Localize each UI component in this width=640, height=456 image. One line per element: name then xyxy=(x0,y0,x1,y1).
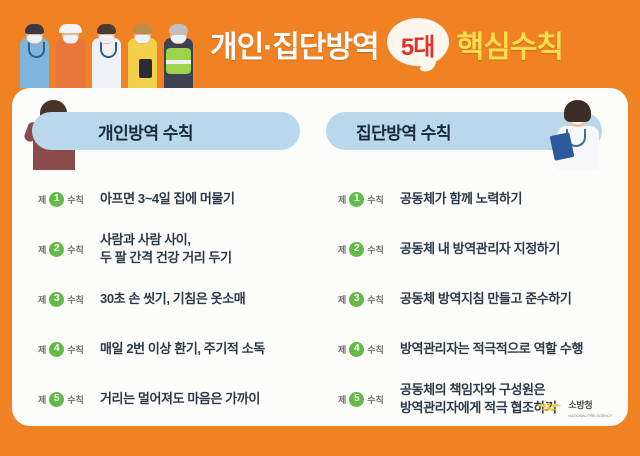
rule-text-line1: 공동체가 함께 노력하기 xyxy=(400,191,522,206)
rule-marker: 제 4 수칙 xyxy=(38,342,100,357)
masked-doctor-clipboard-illustration xyxy=(550,96,606,170)
rule-suffix: 수칙 xyxy=(67,193,84,206)
rule-prefix: 제 xyxy=(38,343,46,356)
poster-title: 개인·집단방역 5대 핵심수칙 xyxy=(210,0,640,88)
list-item: 제 1 수칙 공동체가 함께 노력하기 xyxy=(320,174,628,224)
rule-text: 매일 2번 이상 환기, 주기적 소독 xyxy=(100,340,265,358)
agency-logo-text: 소방청 NATIONAL FIRE AGENCY xyxy=(568,395,612,418)
rule-marker: 제 5 수칙 xyxy=(338,392,400,407)
rule-marker: 제 1 수칙 xyxy=(338,192,400,207)
list-item: 제 4 수칙 매일 2번 이상 환기, 주기적 소독 xyxy=(12,324,320,374)
rule-text: 아프면 3~4일 집에 머물기 xyxy=(100,190,235,208)
rule-text: 거리는 멀어져도 마음은 가까이 xyxy=(100,390,260,408)
rule-text-line1: 공동체 내 방역관리자 지정하기 xyxy=(400,241,560,256)
rule-marker: 제 1 수칙 xyxy=(38,192,100,207)
rule-marker: 제 3 수칙 xyxy=(38,292,100,307)
five-rules-badge: 5대 xyxy=(387,18,449,70)
rule-text-line1: 아프면 3~4일 집에 머물기 xyxy=(100,191,235,206)
rule-number-badge: 3 xyxy=(349,292,364,307)
rule-number-badge: 1 xyxy=(49,192,64,207)
eagle-emblem-icon xyxy=(536,400,562,414)
rule-prefix: 제 xyxy=(38,243,46,256)
rule-text-line1: 매일 2번 이상 환기, 주기적 소독 xyxy=(100,341,265,356)
rule-suffix: 수칙 xyxy=(67,243,84,256)
list-item: 제 5 수칙 거리는 멀어져도 마음은 가까이 xyxy=(12,374,320,424)
rule-number-badge: 5 xyxy=(49,392,64,407)
rule-suffix: 수칙 xyxy=(367,243,384,256)
staff-figure xyxy=(126,4,159,88)
rule-suffix: 수칙 xyxy=(67,393,84,406)
rule-prefix: 제 xyxy=(38,293,46,306)
column-community-header: 집단방역 수칙 xyxy=(320,88,628,170)
rule-text-line1: 공동체 방역지침 만들고 준수하기 xyxy=(400,291,571,306)
column-personal: 개인방역 수칙 제 1 수칙 아프면 3~4일 집에 머물기 제 xyxy=(12,88,320,426)
rule-number-badge: 5 xyxy=(349,392,364,407)
column-personal-title-bar: 개인방역 수칙 xyxy=(32,112,300,150)
header-people-illustration xyxy=(18,4,198,88)
doctor-figure xyxy=(90,4,123,88)
content-card: 개인방역 수칙 제 1 수칙 아프면 3~4일 집에 머물기 제 xyxy=(12,88,628,426)
rule-text: 공동체의 책임자와 구성원은 방역관리자에게 적극 협조하기 xyxy=(400,381,557,416)
nurse-figure xyxy=(18,4,51,88)
poster-header: 개인·집단방역 5대 핵심수칙 xyxy=(0,0,640,88)
rule-suffix: 수칙 xyxy=(367,343,384,356)
rule-text-line1: 공동체의 책임자와 구성원은 xyxy=(400,382,545,397)
rule-text-line1: 30초 손 씻기, 기침은 옷소매 xyxy=(100,291,245,306)
personal-rules-list: 제 1 수칙 아프면 3~4일 집에 머물기 제 2 수칙 사람 xyxy=(12,174,320,424)
rule-suffix: 수칙 xyxy=(367,393,384,406)
rule-marker: 제 2 수칙 xyxy=(38,242,100,257)
rule-prefix: 제 xyxy=(338,243,346,256)
list-item: 제 3 수칙 30초 손 씻기, 기침은 옷소매 xyxy=(12,274,320,324)
rule-suffix: 수칙 xyxy=(67,343,84,356)
rule-text-line1: 사람과 사람 사이, xyxy=(100,232,191,247)
rule-prefix: 제 xyxy=(338,393,346,406)
list-item: 제 2 수칙 공동체 내 방역관리자 지정하기 xyxy=(320,224,628,274)
agency-name: 소방청 xyxy=(568,400,592,410)
rule-prefix: 제 xyxy=(38,193,46,206)
list-item: 제 1 수칙 아프면 3~4일 집에 머물기 xyxy=(12,174,320,224)
rule-text-line2: 두 팔 간격 건강 거리 두기 xyxy=(100,249,232,267)
agency-logo: 소방청 NATIONAL FIRE AGENCY xyxy=(536,395,612,418)
rule-text: 공동체 방역지침 만들고 준수하기 xyxy=(400,290,571,308)
list-item: 제 3 수칙 공동체 방역지침 만들고 준수하기 xyxy=(320,274,628,324)
rule-text: 30초 손 씻기, 기침은 옷소매 xyxy=(100,290,245,308)
rule-prefix: 제 xyxy=(338,343,346,356)
rule-marker: 제 5 수칙 xyxy=(38,392,100,407)
rule-number-badge: 2 xyxy=(49,242,64,257)
rule-text: 공동체 내 방역관리자 지정하기 xyxy=(400,240,560,258)
firefighter-figure xyxy=(54,4,87,88)
agency-name-english: NATIONAL FIRE AGENCY xyxy=(568,413,612,418)
rule-text: 사람과 사람 사이, 두 팔 간격 건강 거리 두기 xyxy=(100,231,232,266)
column-community-title: 집단방역 수칙 xyxy=(356,119,451,144)
title-accent-text: 핵심수칙 xyxy=(457,22,563,66)
rule-text: 공동체가 함께 노력하기 xyxy=(400,190,522,208)
rule-text-line2: 방역관리자에게 적극 협조하기 xyxy=(400,399,557,417)
rule-marker: 제 2 수칙 xyxy=(338,242,400,257)
rule-marker: 제 4 수칙 xyxy=(338,342,400,357)
rule-prefix: 제 xyxy=(338,293,346,306)
rule-prefix: 제 xyxy=(38,393,46,406)
rule-suffix: 수칙 xyxy=(67,293,84,306)
rule-text-line1: 방역관리자는 적극적으로 역할 수행 xyxy=(400,341,583,356)
rule-number-badge: 2 xyxy=(349,242,364,257)
column-personal-header: 개인방역 수칙 xyxy=(12,88,320,170)
column-personal-title: 개인방역 수칙 xyxy=(98,119,193,144)
rule-text-line1: 거리는 멀어져도 마음은 가까이 xyxy=(100,391,260,406)
community-rules-list: 제 1 수칙 공동체가 함께 노력하기 제 2 수칙 공동체 내 xyxy=(320,174,628,424)
title-main-text: 개인·집단방역 xyxy=(210,22,379,66)
rule-number-badge: 4 xyxy=(349,342,364,357)
rule-suffix: 수칙 xyxy=(367,293,384,306)
rule-number-badge: 3 xyxy=(49,292,64,307)
badge-label: 5대 xyxy=(401,27,434,62)
poster-root: 개인·집단방역 5대 핵심수칙 개인방역 수칙 xyxy=(0,0,640,456)
rule-text: 방역관리자는 적극적으로 역할 수행 xyxy=(400,340,583,358)
safety-worker-figure xyxy=(162,4,195,88)
list-item: 제 4 수칙 방역관리자는 적극적으로 역할 수행 xyxy=(320,324,628,374)
column-community: 집단방역 수칙 제 1 수칙 xyxy=(320,88,628,426)
rule-marker: 제 3 수칙 xyxy=(338,292,400,307)
rule-number-badge: 4 xyxy=(49,342,64,357)
rule-number-badge: 1 xyxy=(349,192,364,207)
rule-suffix: 수칙 xyxy=(367,193,384,206)
list-item: 제 2 수칙 사람과 사람 사이, 두 팔 간격 건강 거리 두기 xyxy=(12,224,320,274)
rule-prefix: 제 xyxy=(338,193,346,206)
